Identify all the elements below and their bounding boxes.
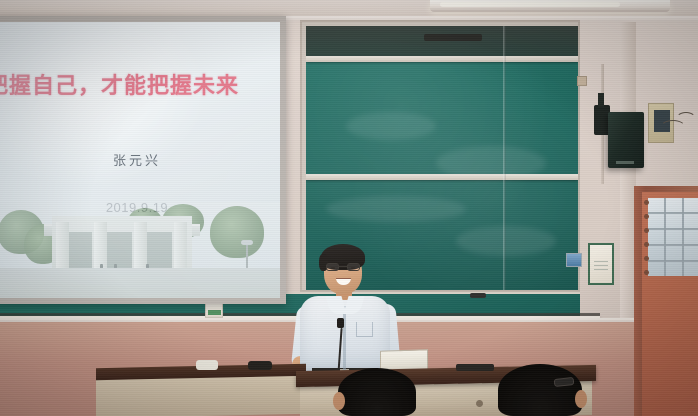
speaker-badge [616,161,634,164]
chalkboard-panel-edge [503,26,506,290]
desk-white-object[interactable] [196,360,218,370]
photo-gate-column [174,222,187,274]
slide-campus-gate-photo [0,202,280,298]
audience-student [498,364,582,416]
chalk-smudge [456,226,556,256]
classroom-door-frame [634,186,698,416]
chalk-stick[interactable] [470,293,486,298]
framed-notice [588,243,614,285]
classroom-door[interactable] [642,192,698,416]
photo-ground [0,268,280,298]
projection-screen: 把握自己，才能把握未来 张元兴 2019.9.19 [0,22,280,298]
wall-control-display[interactable] [566,253,582,267]
slide-author: 张元兴 [0,150,280,169]
student-ear [575,390,587,408]
wall-socket-icon[interactable] [577,76,587,86]
audience-student [338,368,416,416]
fluorescent-light-icon [430,0,670,12]
chalk-smudge [346,112,436,140]
projector-mount-bar-icon [424,34,482,41]
shirt-pocket [356,322,373,337]
cable-loop [676,112,696,126]
podium-knob[interactable] [476,400,483,407]
podium-dark-item[interactable] [456,364,494,371]
presenter-eye [351,267,355,269]
chalk-smudge [326,196,466,222]
wall-speaker [608,112,644,168]
barred-door-window [648,198,698,276]
lapel-microphone-icon [337,318,344,328]
door-hinge-rivets [644,200,650,268]
chalkboard-rail-middle[interactable] [306,174,578,180]
photo-gate-column [56,222,69,274]
student-hair [498,364,582,416]
chalkboard-rail-upper[interactable] [306,56,578,62]
slide-title: 把握自己，才能把握未来 [0,68,276,100]
shirt-placket [343,306,346,376]
chalkboard-top-shadow [306,26,578,60]
student-ear [333,392,345,410]
desk-dark-object[interactable] [248,361,272,370]
presenter-eye [331,267,335,269]
classroom-photo-scene: 把握自己，才能把握未来 张元兴 2019.9.19 [0,0,698,416]
projection-screen-frame: 把握自己，才能把握未来 张元兴 2019.9.19 [0,16,286,304]
student-hair [338,368,416,416]
photo-tree [210,206,264,258]
